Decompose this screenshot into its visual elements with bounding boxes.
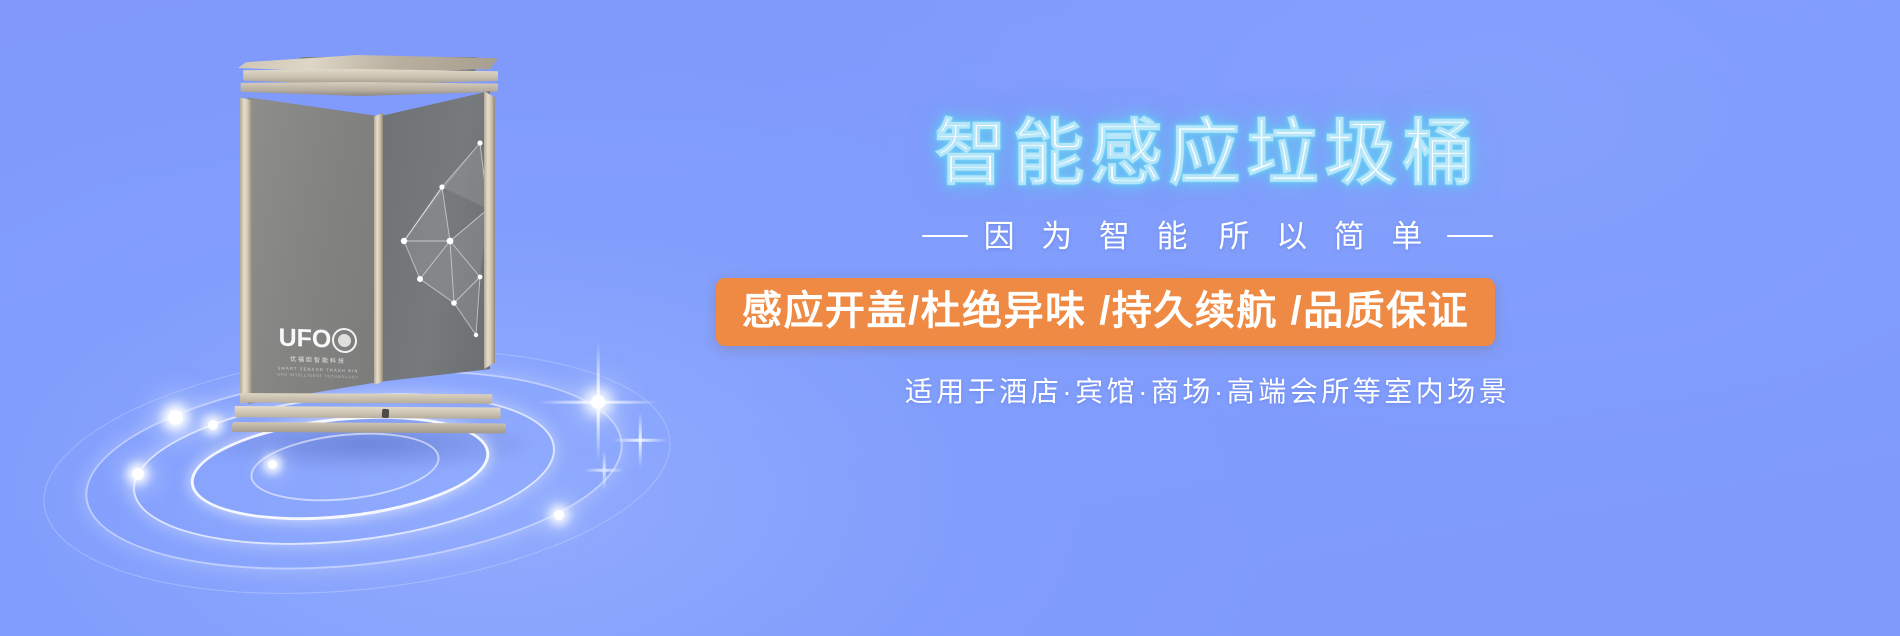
bin-base-plinth [232, 393, 506, 439]
smart-trash-bin: UFO 优福欧智能科技 SMART SENSOR TRASH BIN UFO I… [238, 55, 498, 437]
bin-panel-right [380, 91, 490, 407]
bin-plinth-slab-bottom [232, 422, 506, 438]
bin-pilaster-middle [374, 91, 383, 407]
bin-pilaster-left [240, 91, 252, 407]
use-case-line: 适用于酒店·宾馆·商场·高端会所等室内场景 [700, 370, 1715, 410]
network-mesh-graphic [380, 91, 490, 407]
glow-dot-4 [268, 460, 277, 469]
feature-tagline-text: 感应开盖/杜绝异味 /持久续航 /品质保证 [742, 291, 1469, 331]
subtitle-rule-left [922, 235, 968, 238]
bin-panel-left [248, 91, 380, 407]
product-stage: UFO 优福欧智能科技 SMART SENSOR TRASH BIN UFO I… [0, 0, 760, 636]
marketing-copy: 智能感应垃圾桶 因 为 智 能所 以 简 单 感应开盖/杜绝异味 /持久续航 /… [700, 0, 1900, 636]
bin-pilaster-right [484, 91, 495, 407]
bin-plinth-slab-top [232, 393, 506, 408]
bin-plinth-slab-mid [232, 406, 506, 423]
motion-sensor-icon [382, 409, 389, 418]
glow-dot-5 [554, 510, 564, 520]
subtitle-line: 因 为 智 能所 以 简 单 [700, 218, 1715, 255]
glow-dot-2 [208, 420, 218, 430]
glow-dot-3 [132, 468, 144, 480]
subtitle-part-1: 因 为 智 能 [984, 219, 1197, 254]
subtitle-part-2: 所 以 简 单 [1219, 219, 1432, 254]
page-title: 智能感应垃圾桶 [700, 118, 1715, 190]
glow-dot-1 [168, 410, 183, 425]
feature-tagline-badge: 感应开盖/杜绝异味 /持久续航 /品质保证 [716, 278, 1495, 346]
subtitle-rule-right [1447, 235, 1493, 238]
promo-banner: UFO 优福欧智能科技 SMART SENSOR TRASH BIN UFO I… [0, 0, 1900, 636]
bin-body: UFO 优福欧智能科技 SMART SENSOR TRASH BIN UFO I… [238, 91, 498, 407]
